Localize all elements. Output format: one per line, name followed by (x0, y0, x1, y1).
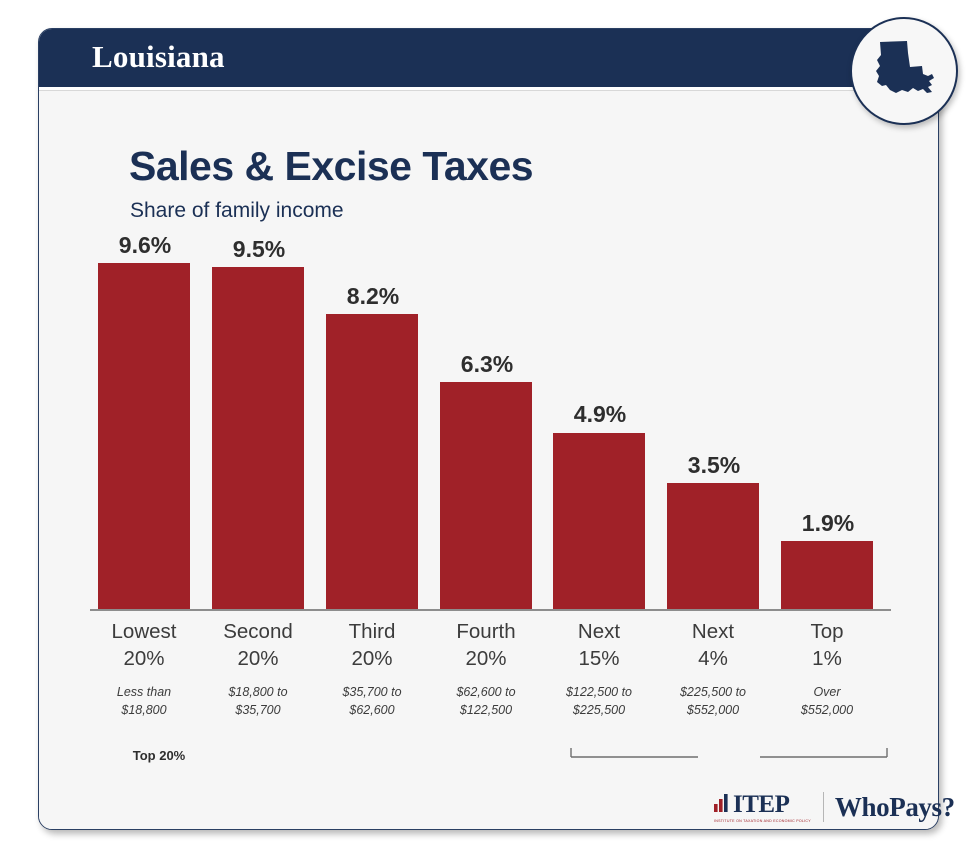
footer-logos: ITEP INSTITUTE ON TAXATION AND ECONOMIC … (714, 789, 955, 825)
income-range-next-15: $122,500 to $225,500 (533, 684, 665, 720)
category-label-third-20: Third 20% (312, 618, 432, 672)
category-label-fourth-20: Fourth 20% (426, 618, 546, 672)
category-line-2: 4% (653, 645, 773, 672)
itep-logo[interactable]: ITEP INSTITUTE ON TAXATION AND ECONOMIC … (714, 792, 811, 823)
income-range-lowest-20: Less than $18,800 (78, 684, 210, 720)
income-range-top-1: Over $552,000 (761, 684, 893, 720)
category-label-next-15: Next 15% (539, 618, 659, 672)
category-label-top-1: Top 1% (767, 618, 887, 672)
income-range-line-2: $35,700 (192, 702, 324, 720)
income-range-line-2: $225,500 (533, 702, 665, 720)
bar-value-label: 6.3% (440, 351, 534, 378)
category-line-1: Top (767, 618, 887, 645)
x-axis-line (90, 609, 891, 611)
top-20-bracket-label: Top 20% (0, 748, 318, 763)
bar-fourth-20[interactable] (440, 382, 532, 609)
bar-value-label: 1.9% (781, 510, 875, 537)
income-range-third-20: $35,700 to $62,600 (306, 684, 438, 720)
category-line-1: Second (198, 618, 318, 645)
category-line-2: 1% (767, 645, 887, 672)
logo-divider (823, 792, 824, 822)
state-badge (850, 17, 958, 125)
category-label-second-20: Second 20% (198, 618, 318, 672)
income-range-line-2: $62,600 (306, 702, 438, 720)
itep-bars-icon (714, 793, 730, 817)
category-line-2: 15% (539, 645, 659, 672)
income-range-line-2: $18,800 (78, 702, 210, 720)
category-line-2: 20% (426, 645, 546, 672)
chart-page: Louisiana Sales & Excise Taxes Share of … (0, 0, 975, 858)
category-line-1: Fourth (426, 618, 546, 645)
bar-third-20[interactable] (326, 314, 418, 609)
itep-wordmark: ITEP (733, 792, 789, 817)
bar-value-label: 3.5% (667, 452, 761, 479)
category-line-1: Third (312, 618, 432, 645)
bar-next-15[interactable] (553, 433, 645, 609)
page-title: Sales & Excise Taxes (129, 143, 533, 190)
category-line-2: 20% (198, 645, 318, 672)
itep-tagline: INSTITUTE ON TAXATION AND ECONOMIC POLIC… (714, 819, 811, 823)
bar-value-label: 8.2% (326, 283, 420, 310)
category-label-lowest-20: Lowest 20% (84, 618, 204, 672)
bar-second-20[interactable] (212, 267, 304, 609)
bar-top-1[interactable] (781, 541, 873, 609)
bar-value-label: 9.5% (212, 236, 306, 263)
louisiana-state-outline-icon (866, 36, 942, 106)
income-range-line-1: Over (761, 684, 893, 702)
income-range-second-20: $18,800 to $35,700 (192, 684, 324, 720)
income-range-next-4: $225,500 to $552,000 (647, 684, 779, 720)
income-range-line-2: $552,000 (761, 702, 893, 720)
category-line-1: Next (653, 618, 773, 645)
category-line-2: 20% (84, 645, 204, 672)
bar-value-label: 9.6% (98, 232, 192, 259)
income-range-line-2: $552,000 (647, 702, 779, 720)
income-range-line-1: Less than (78, 684, 210, 702)
state-title: Louisiana (92, 39, 225, 75)
income-range-line-1: $35,700 to (306, 684, 438, 702)
category-line-1: Next (539, 618, 659, 645)
income-range-line-1: $18,800 to (192, 684, 324, 702)
page-subtitle: Share of family income (130, 199, 344, 223)
income-range-line-1: $225,500 to (647, 684, 779, 702)
category-line-1: Lowest (84, 618, 204, 645)
whopays-wordmark[interactable]: WhoPays? (835, 794, 955, 821)
category-label-next-4: Next 4% (653, 618, 773, 672)
bar-value-label: 4.9% (553, 401, 647, 428)
category-line-2: 20% (312, 645, 432, 672)
bar-lowest-20[interactable] (98, 263, 190, 609)
top-20-bracket (570, 747, 888, 765)
bar-next-4[interactable] (667, 483, 759, 609)
income-range-line-1: $122,500 to (533, 684, 665, 702)
card-header-bar: Louisiana (39, 29, 938, 87)
